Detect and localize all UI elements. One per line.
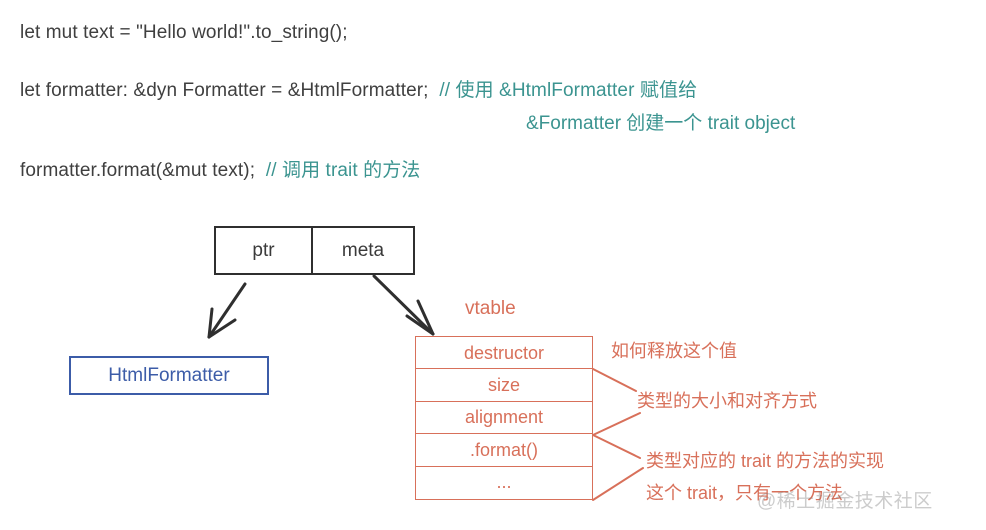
code-line-1-text: let mut text = "Hello world!".to_string(…: [20, 22, 348, 43]
code-line-2: let formatter: &dyn Formatter = &HtmlFor…: [20, 78, 697, 104]
vtable-box: destructor size alignment .format() ...: [415, 336, 593, 505]
code-line-3: formatter.format(&mut text); // 调用 trait…: [20, 158, 420, 184]
connector-trait-methods: [593, 468, 643, 500]
vtable-row-format: .format(): [415, 433, 593, 467]
data-box-htmlformatter: HtmlFormatter: [69, 356, 269, 395]
code-line-2-comment: [429, 80, 440, 101]
vtable-title: vtable: [465, 298, 516, 320]
diagram-canvas: let mut text = "Hello world!".to_string(…: [0, 0, 986, 530]
code-line-3-text: formatter.format(&mut text);: [20, 160, 255, 181]
code-comment-continuation: &Formatter 创建一个 trait object: [526, 111, 795, 137]
code-line-1: let mut text = "Hello world!".to_string(…: [20, 20, 348, 46]
annotation-destructor: 如何释放这个值: [611, 338, 737, 364]
arrow-meta-to-vtable: [374, 276, 433, 334]
code-line-2-text: let formatter: &dyn Formatter = &HtmlFor…: [20, 80, 429, 101]
connector-size-alignment: [593, 413, 640, 458]
vtable-row-size: size: [415, 368, 593, 402]
vtable-row-destructor: destructor: [415, 336, 593, 370]
fat-pointer-ptr-cell: ptr: [214, 226, 313, 275]
code-line-2-comment-text: // 使用 &HtmlFormatter 赋值给: [439, 80, 697, 101]
code-line-3-gap: [255, 160, 266, 181]
annotation-size-alignment: 类型的大小和对齐方式: [637, 388, 817, 414]
fat-pointer-meta-cell: meta: [311, 226, 415, 275]
arrow-ptr-to-data: [209, 284, 245, 337]
watermark: @稀土掘金技术社区: [757, 486, 933, 513]
annotation-trait-methods: 类型对应的 trait 的方法的实现: [646, 448, 884, 474]
vtable-row-alignment: alignment: [415, 401, 593, 435]
vtable-row-ellipsis: ...: [415, 466, 593, 500]
connector-destructor: [593, 369, 636, 391]
code-line-3-comment-text: // 调用 trait 的方法: [266, 160, 421, 181]
fat-pointer-box: ptr meta: [214, 226, 417, 275]
